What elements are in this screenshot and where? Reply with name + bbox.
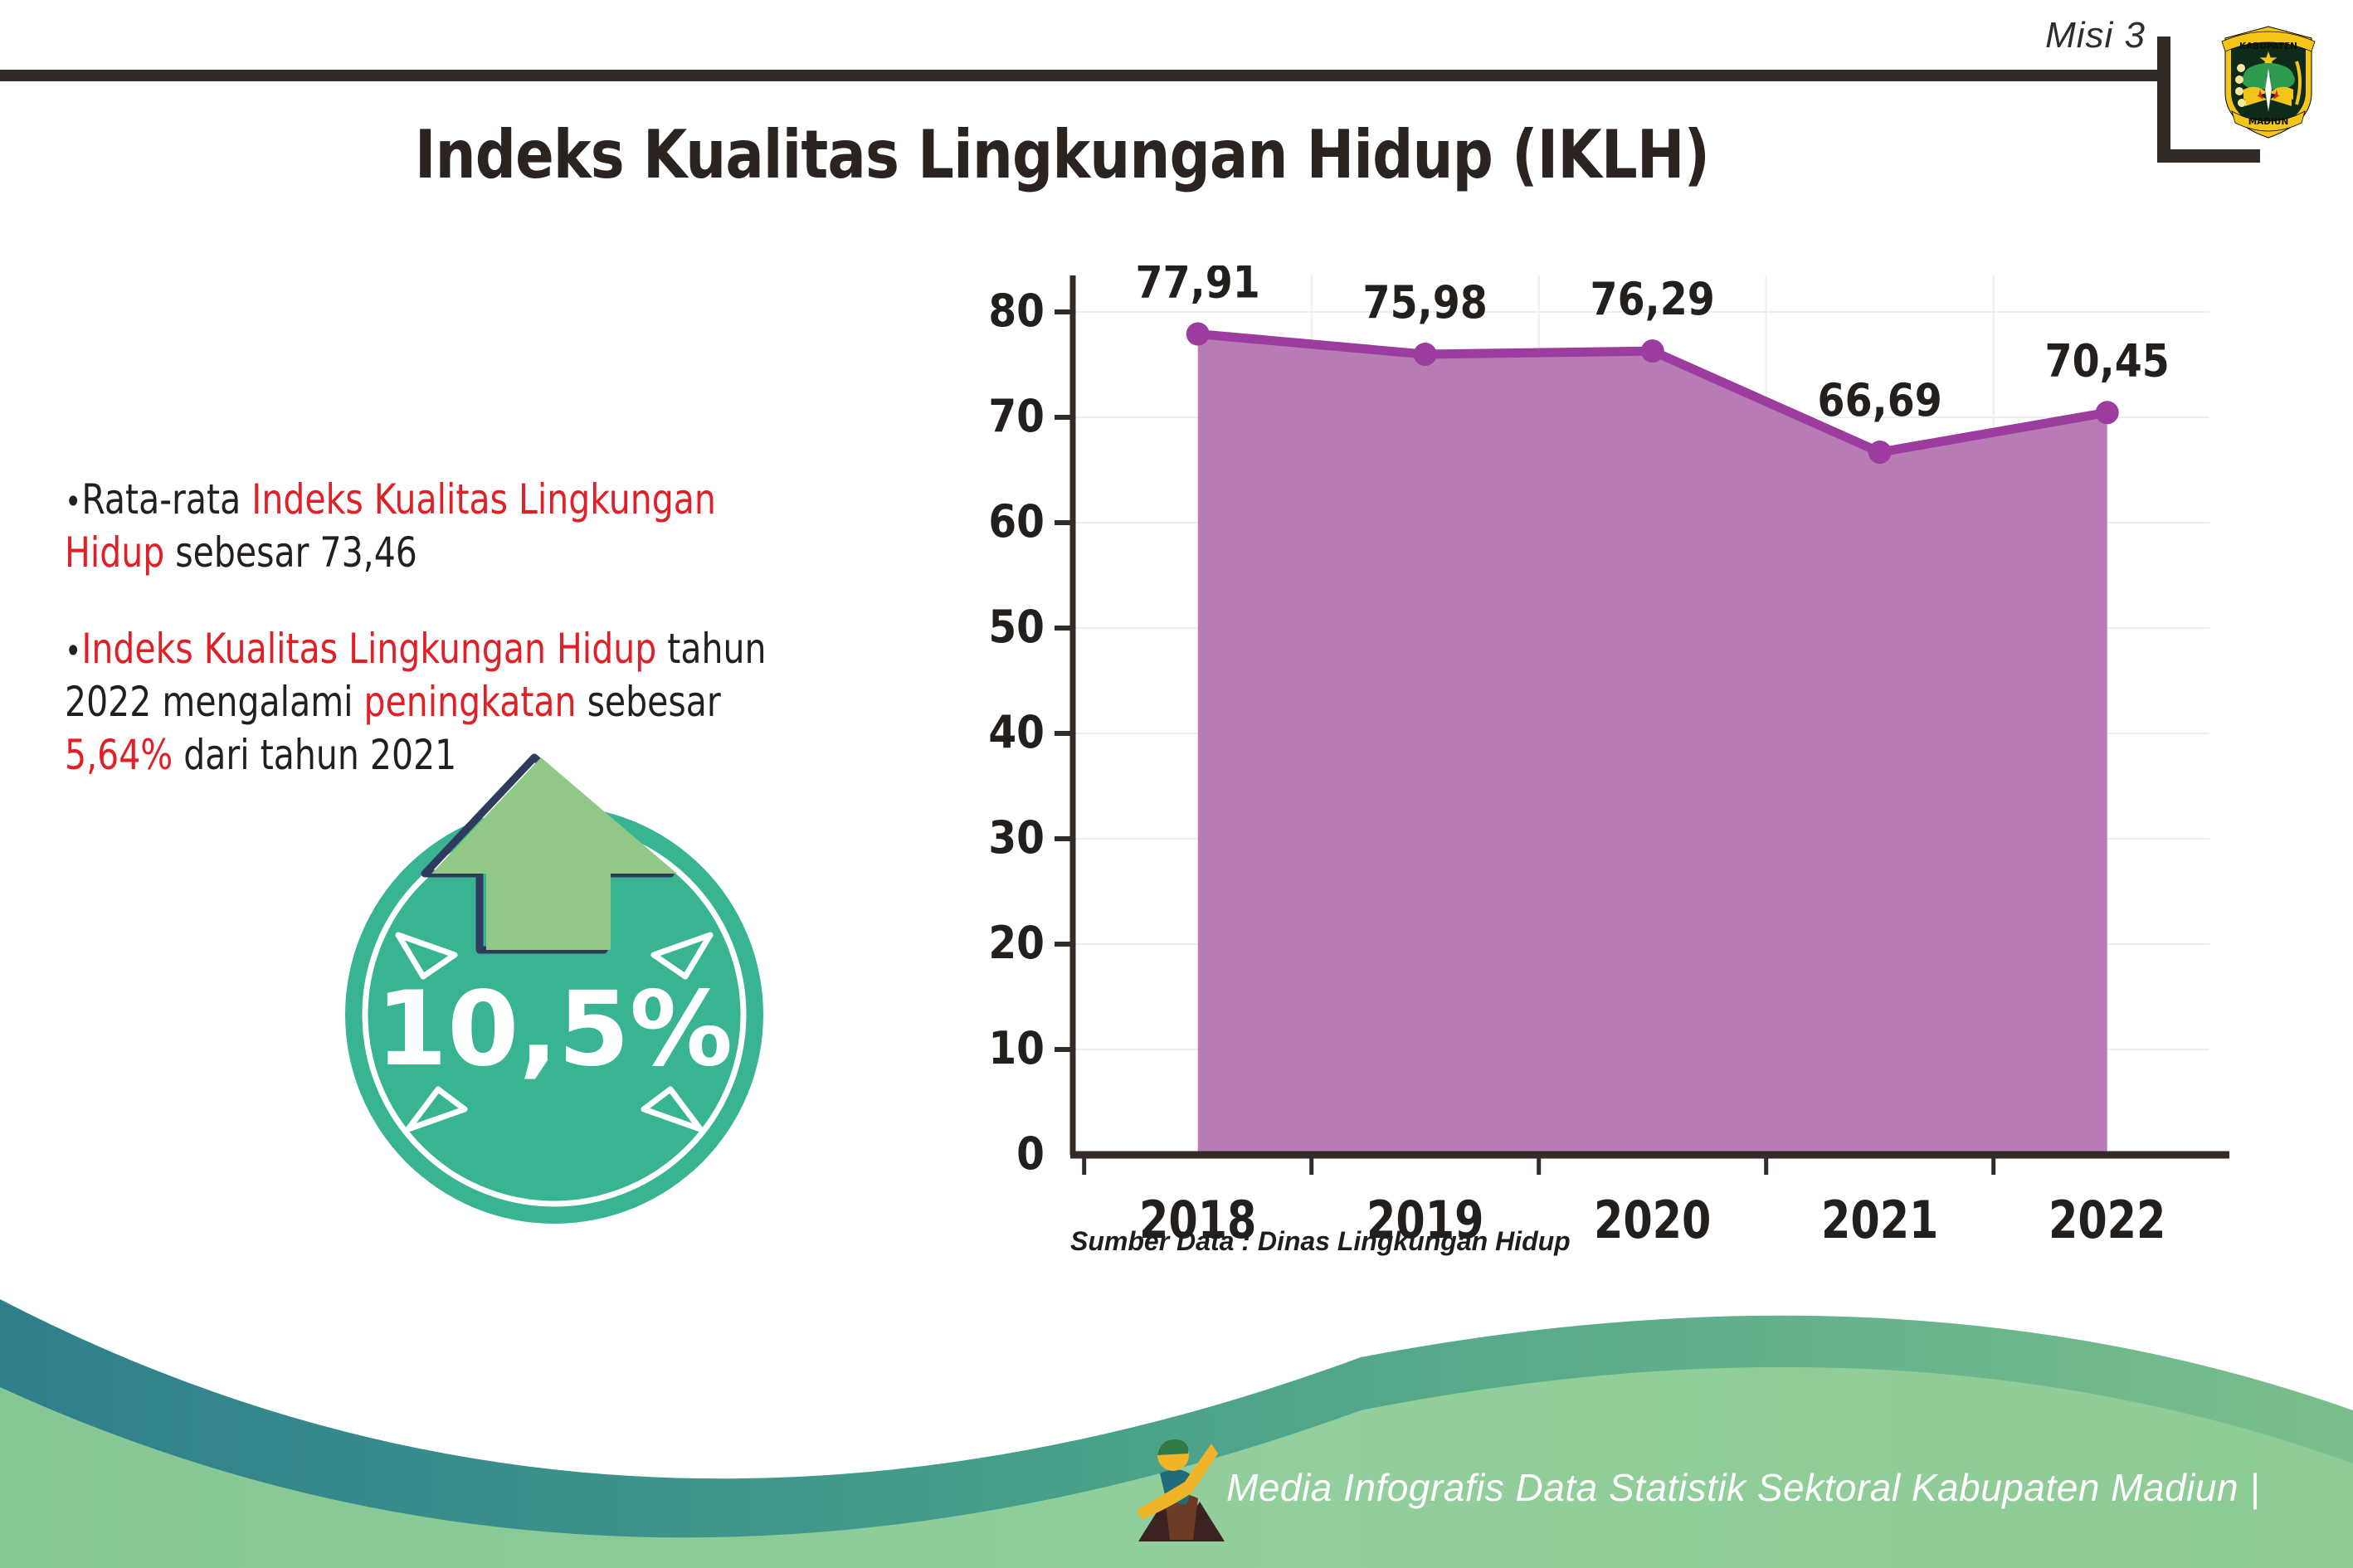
area-path: [1198, 334, 2107, 1155]
data-label: 75,98: [1363, 276, 1488, 329]
statistik-figure-logo-icon: [1135, 1425, 1228, 1551]
data-label: 77,91: [1136, 265, 1260, 308]
footer-caption: Media Infografis Data Statistik Sektoral…: [1226, 1465, 2260, 1510]
y-tick-label: 30: [988, 812, 1045, 864]
y-tick-label: 10: [988, 1023, 1045, 1075]
y-tick-label: 50: [988, 601, 1045, 654]
data-point: [2096, 401, 2119, 424]
narrative-segment: Rata-rata: [81, 475, 251, 523]
data-label: 76,29: [1591, 273, 1715, 325]
increase-badge: 10,5%: [322, 751, 787, 1232]
narrative-segment: 5,64%: [65, 731, 173, 779]
narrative-segment: •: [65, 631, 81, 671]
x-tick-label: 2022: [2049, 1191, 2165, 1250]
narrative-segment: •: [65, 481, 81, 522]
x-tick-label: 2021: [1821, 1191, 1938, 1250]
header-bracket-horizontal: [2157, 149, 2260, 163]
narrative-segment: Indeks Kualitas Lingkungan Hidup: [81, 625, 656, 673]
data-point: [1868, 441, 1892, 464]
kabupaten-madiun-emblem-icon: KABUPATEN MADIUN: [2214, 13, 2323, 143]
chart-source-note: Sumber Data : Dinas Lingkungan Hidup: [1070, 1226, 1571, 1257]
header-rule: [0, 70, 2164, 81]
chart-y-tick-labels: 01020304050607080: [988, 285, 1045, 1181]
narrative-segment: sebesar 73,46: [164, 528, 417, 577]
misi-label: Misi 3: [2045, 15, 2146, 56]
iklh-area-chart: 01020304050607080 20182019202020212022 7…: [975, 265, 2236, 1294]
chart-area-fill: [1198, 334, 2107, 1155]
y-tick-label: 0: [1016, 1128, 1045, 1181]
y-tick-label: 40: [988, 707, 1045, 759]
narrative-segment: peningkatan: [364, 678, 577, 726]
svg-text:MADIUN: MADIUN: [2248, 117, 2289, 127]
data-label: 66,69: [1818, 374, 1942, 426]
narrative-segment: sebesar: [577, 678, 721, 726]
data-point: [1186, 323, 1210, 346]
y-tick-label: 70: [988, 391, 1045, 443]
chart-svg: 01020304050607080 20182019202020212022 7…: [975, 265, 2236, 1294]
data-label: 70,45: [2045, 334, 2170, 387]
y-tick-label: 20: [988, 918, 1045, 970]
data-point: [1641, 339, 1664, 363]
svg-text:KABUPATEN: KABUPATEN: [2239, 41, 2297, 51]
page-title: Indeks Kualitas Lingkungan Hidup (IKLH): [149, 116, 1975, 193]
data-point: [1414, 343, 1437, 366]
header-bracket-vertical: [2157, 37, 2170, 163]
y-tick-label: 80: [988, 285, 1045, 338]
badge-value: 10,5%: [376, 970, 733, 1089]
narrative-bullet-1: •Rata-rata Indeks Kualitas Lingkungan Hi…: [65, 473, 806, 579]
x-tick-label: 2020: [1594, 1191, 1711, 1250]
y-tick-label: 60: [988, 496, 1045, 548]
